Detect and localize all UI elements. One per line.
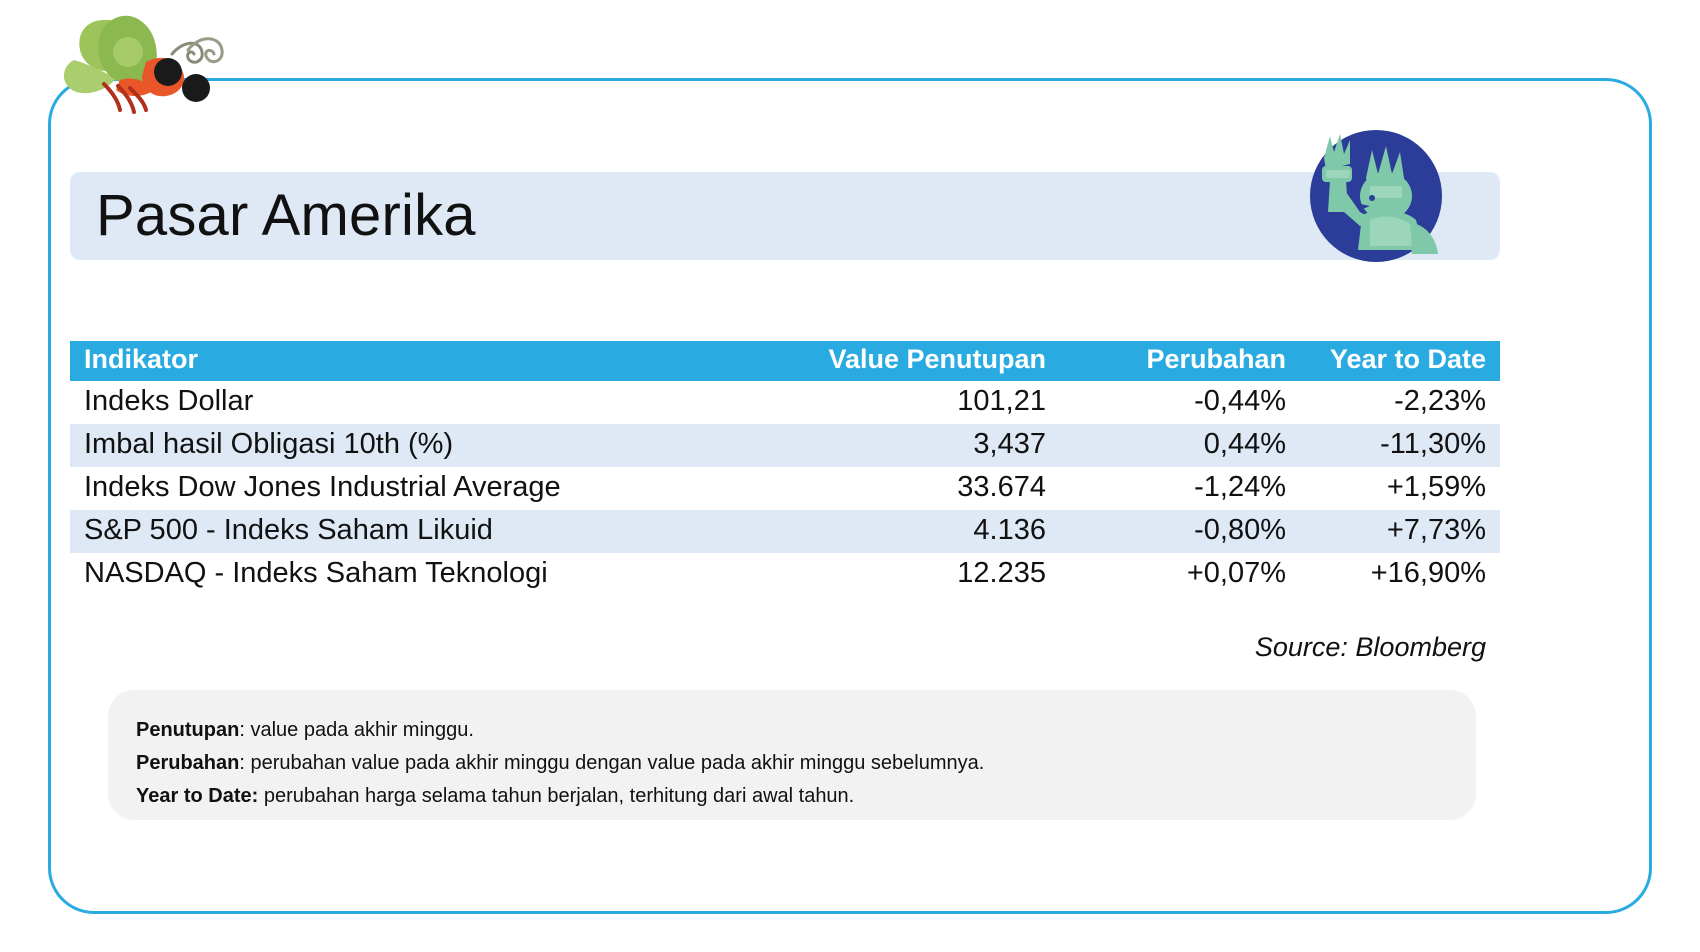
butterfly-icon xyxy=(60,6,250,124)
cell-indikator: Indeks Dow Jones Industrial Average xyxy=(70,467,710,510)
note-text: perubahan harga selama tahun berjalan, t… xyxy=(264,785,854,807)
slide-canvas: Pasar Amerika Indikator Va xyxy=(0,0,1700,952)
cell-value: 33.674 xyxy=(710,467,1060,510)
cell-ytd: +16,90% xyxy=(1300,553,1500,596)
cell-ytd: +7,73% xyxy=(1300,510,1500,553)
cell-ytd: -2,23% xyxy=(1300,381,1500,424)
note-year-to-date: Year to Date: perubahan harga selama tah… xyxy=(136,780,1476,813)
note-sep: : xyxy=(239,719,250,741)
cell-indikator: S&P 500 - Indeks Saham Likuid xyxy=(70,510,710,553)
cell-indikator: NASDAQ - Indeks Saham Teknologi xyxy=(70,553,710,596)
cell-value: 3,437 xyxy=(710,424,1060,467)
column-header-indikator[interactable]: Indikator xyxy=(70,341,710,381)
note-term: Penutupan xyxy=(136,719,239,741)
source-label: Source: Bloomberg xyxy=(70,632,1486,663)
table-body: Indeks Dollar 101,21 -0,44% -2,23% Imbal… xyxy=(70,381,1500,596)
statue-of-liberty-icon xyxy=(1300,120,1452,272)
column-header-value-penutupan[interactable]: Value Penutupan xyxy=(710,341,1060,381)
note-perubahan: Perubahan: perubahan value pada akhir mi… xyxy=(136,747,1476,780)
cell-indikator: Indeks Dollar xyxy=(70,381,710,424)
cell-perubahan: -0,44% xyxy=(1060,381,1300,424)
cell-ytd: +1,59% xyxy=(1300,467,1500,510)
column-header-year-to-date[interactable]: Year to Date xyxy=(1300,341,1500,381)
note-sep: : xyxy=(239,752,250,774)
table-row: NASDAQ - Indeks Saham Teknologi 12.235 +… xyxy=(70,553,1500,596)
table-row: Indeks Dow Jones Industrial Average 33.6… xyxy=(70,467,1500,510)
legend-panel: Penutupan: value pada akhir minggu. Peru… xyxy=(108,690,1476,820)
cell-ytd: -11,30% xyxy=(1300,424,1500,467)
market-data-table: Indikator Value Penutupan Perubahan Year… xyxy=(70,341,1500,596)
cell-indikator: Imbal hasil Obligasi 10th (%) xyxy=(70,424,710,467)
page-title: Pasar Amerika xyxy=(96,176,996,256)
cell-value: 12.235 xyxy=(710,553,1060,596)
cell-value: 4.136 xyxy=(710,510,1060,553)
table-row: S&P 500 - Indeks Saham Likuid 4.136 -0,8… xyxy=(70,510,1500,553)
table-row: Indeks Dollar 101,21 -0,44% -2,23% xyxy=(70,381,1500,424)
cell-perubahan: -0,80% xyxy=(1060,510,1300,553)
cell-perubahan: -1,24% xyxy=(1060,467,1300,510)
note-term: Perubahan xyxy=(136,752,239,774)
cell-perubahan: +0,07% xyxy=(1060,553,1300,596)
note-penutupan: Penutupan: value pada akhir minggu. xyxy=(136,714,1476,747)
column-header-perubahan[interactable]: Perubahan xyxy=(1060,341,1300,381)
cell-value: 101,21 xyxy=(710,381,1060,424)
note-term: Year to Date: xyxy=(136,785,258,807)
table-row: Imbal hasil Obligasi 10th (%) 3,437 0,44… xyxy=(70,424,1500,467)
note-text: value pada akhir minggu. xyxy=(250,719,473,741)
cell-perubahan: 0,44% xyxy=(1060,424,1300,467)
table-header-row: Indikator Value Penutupan Perubahan Year… xyxy=(70,341,1500,381)
note-text: perubahan value pada akhir minggu dengan… xyxy=(250,752,984,774)
